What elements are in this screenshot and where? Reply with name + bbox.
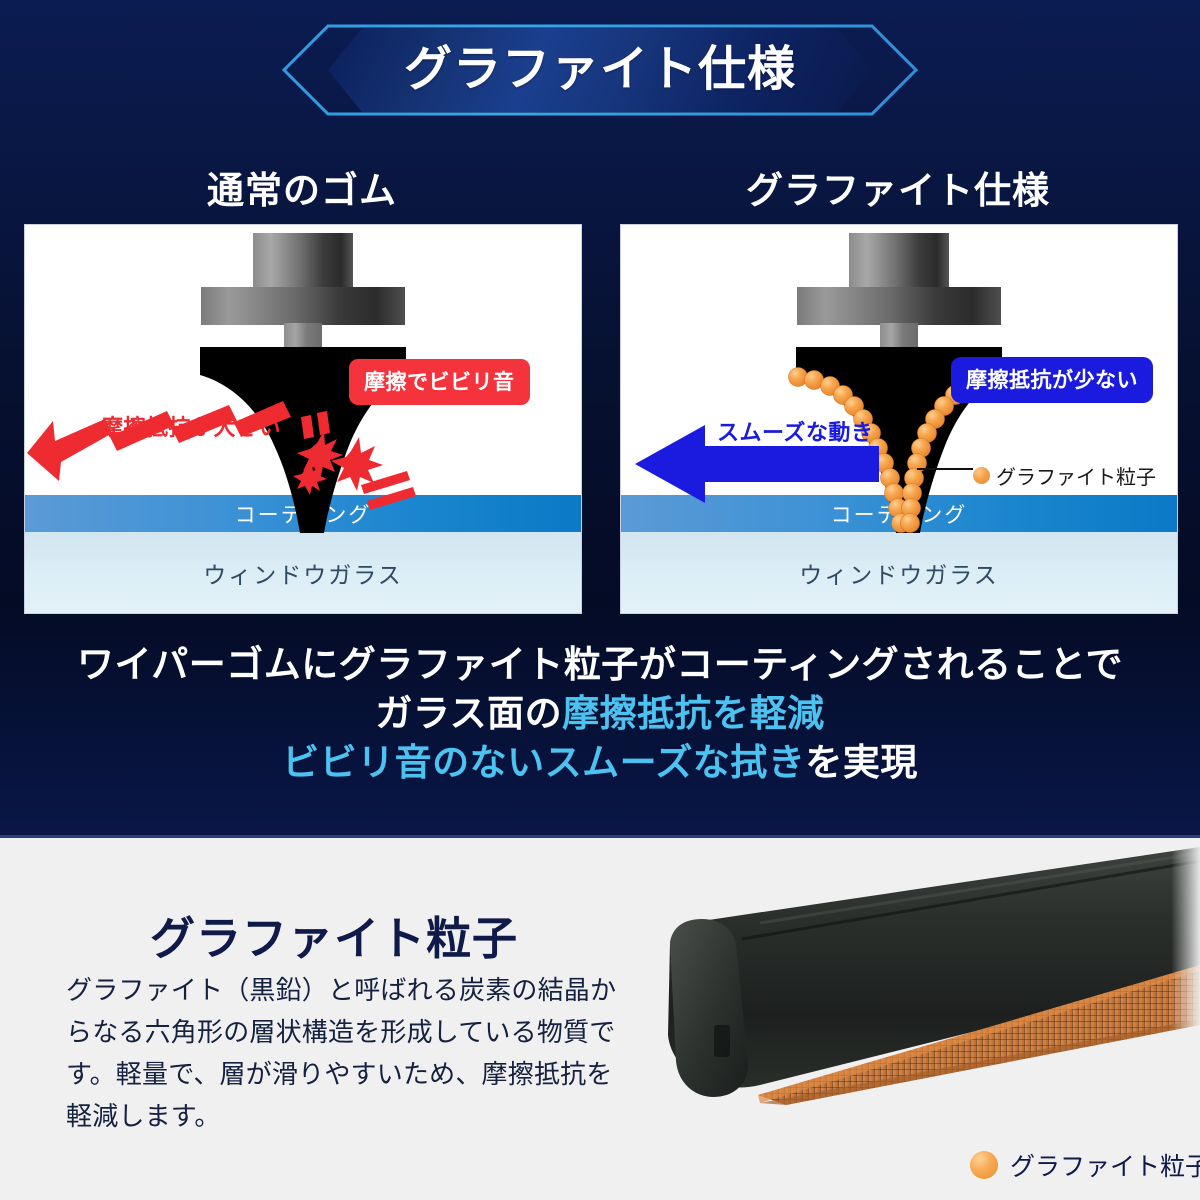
diagram-card-normal-rubber: コーティング ウィンドウガラス <box>24 224 582 614</box>
panel-title-normal-rubber: 通常のゴム <box>22 160 582 214</box>
graphite-particle-legend-bottom: グラファイト粒子 <box>970 1147 1200 1183</box>
summary-line-2-prefix: ガラス面の <box>375 693 562 734</box>
banner-inner-plate: グラファイト仕様 <box>328 28 872 112</box>
bottom-section-title: グラファイト粒子 <box>150 902 518 967</box>
summary-line-3: ビビリ音のないスムーズな拭きを実現 <box>0 738 1200 787</box>
bottom-light-section: グラファイト粒子 グラファイト（黒鉛）と呼ばれる炭素の結晶からなる六角形の層状構… <box>0 841 1200 1200</box>
summary-text-block: ワイパーゴムにグラファイト粒子がコーティングされることで ガラス面の摩擦抵抗を軽… <box>0 640 1200 788</box>
summary-line-3-suffix: を実現 <box>805 742 918 783</box>
summary-line-3-highlight-a: ビビリ音のない <box>282 742 545 783</box>
friction-arrow-label-left: 摩擦抵抗が大きい <box>101 410 281 442</box>
graphite-particle-dot-icon <box>970 1151 998 1179</box>
header-banner: グラファイト仕様 <box>282 24 918 116</box>
summary-line-2-highlight: 摩擦抵抗を軽減 <box>562 693 825 734</box>
graphite-particle-legend-inline: グラファイト粒子 <box>973 461 1156 490</box>
graphite-particle-legend-label: グラファイト粒子 <box>996 461 1156 490</box>
summary-line-2: ガラス面の摩擦抵抗を軽減 <box>0 689 1200 738</box>
graphite-particle-legend-label-bottom: グラファイト粒子 <box>1010 1147 1200 1183</box>
diagram-stage-left: コーティング ウィンドウガラス <box>25 225 581 613</box>
summary-line-1: ワイパーゴムにグラファイト粒子がコーティングされることで <box>0 640 1200 689</box>
wiper-blade-illustration-icon <box>610 847 1200 1147</box>
summary-line-3-highlight-b: スムーズな拭き <box>545 742 806 783</box>
smooth-motion-arrow-label: スムーズな動き <box>717 415 873 447</box>
badge-vibration-noise: 摩擦でビビリ音 <box>349 359 530 405</box>
diagram-card-graphite: コーティング ウィンドウガラス <box>620 224 1178 614</box>
panel-title-graphite: グラファイト仕様 <box>618 160 1178 214</box>
top-dark-section: グラファイト仕様 通常のゴム コーティング ウィンドウガラス <box>0 0 1200 838</box>
bottom-section-body: グラファイト（黒鉛）と呼ばれる炭素の結晶からなる六角形の層状構造を形成している物… <box>66 969 636 1137</box>
graphite-particle-dot-icon <box>973 467 990 484</box>
badge-low-friction: 摩擦抵抗が少ない <box>951 357 1153 403</box>
diagram-stage-right: コーティング ウィンドウガラス <box>621 225 1177 613</box>
wiper-blade-photo <box>610 847 1200 1147</box>
smooth-motion-arrow-icon <box>621 225 1178 614</box>
header-title: グラファイト仕様 <box>404 46 796 94</box>
infographic-page: グラファイト仕様 通常のゴム コーティング ウィンドウガラス <box>0 0 1200 1200</box>
